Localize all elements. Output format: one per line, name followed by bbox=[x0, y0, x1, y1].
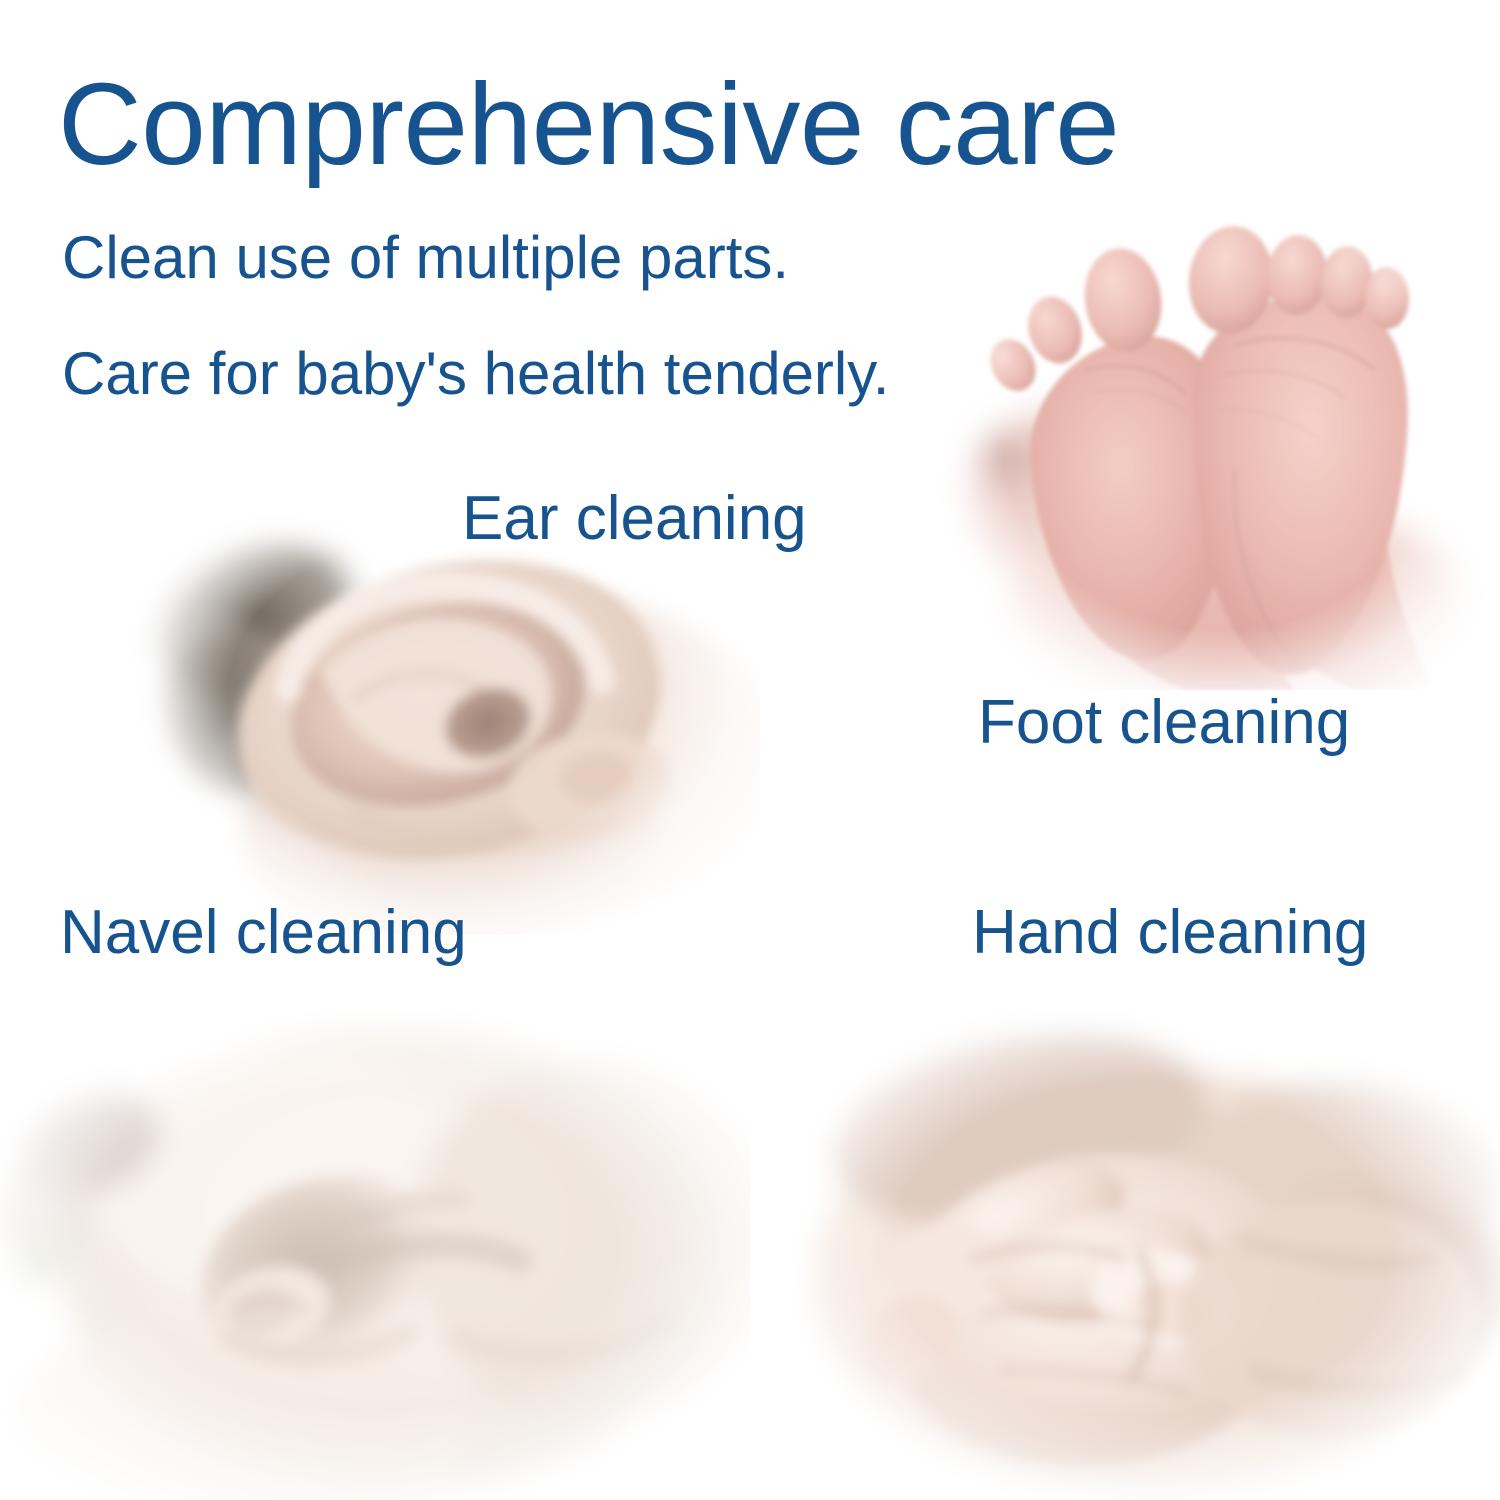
baby-navel-photo bbox=[0, 1010, 750, 1500]
caption-ear-cleaning: Ear cleaning bbox=[462, 488, 807, 550]
comprehensive-care-poster: Comprehensive care Clean use of multiple… bbox=[0, 0, 1500, 1500]
subtitle-line-1: Clean use of multiple parts. bbox=[62, 228, 789, 288]
caption-navel-cleaning: Navel cleaning bbox=[60, 902, 467, 964]
baby-hand-illustration bbox=[770, 1010, 1500, 1500]
baby-feet-photo bbox=[935, 170, 1500, 690]
baby-feet-illustration bbox=[935, 170, 1500, 690]
baby-navel-illustration bbox=[0, 1010, 750, 1500]
caption-hand-cleaning: Hand cleaning bbox=[972, 902, 1368, 964]
page-title: Comprehensive care bbox=[58, 66, 1119, 182]
subtitle-line-2: Care for baby's health tenderly. bbox=[62, 344, 889, 404]
baby-hand-photo bbox=[770, 1010, 1500, 1500]
caption-foot-cleaning: Foot cleaning bbox=[978, 692, 1350, 754]
